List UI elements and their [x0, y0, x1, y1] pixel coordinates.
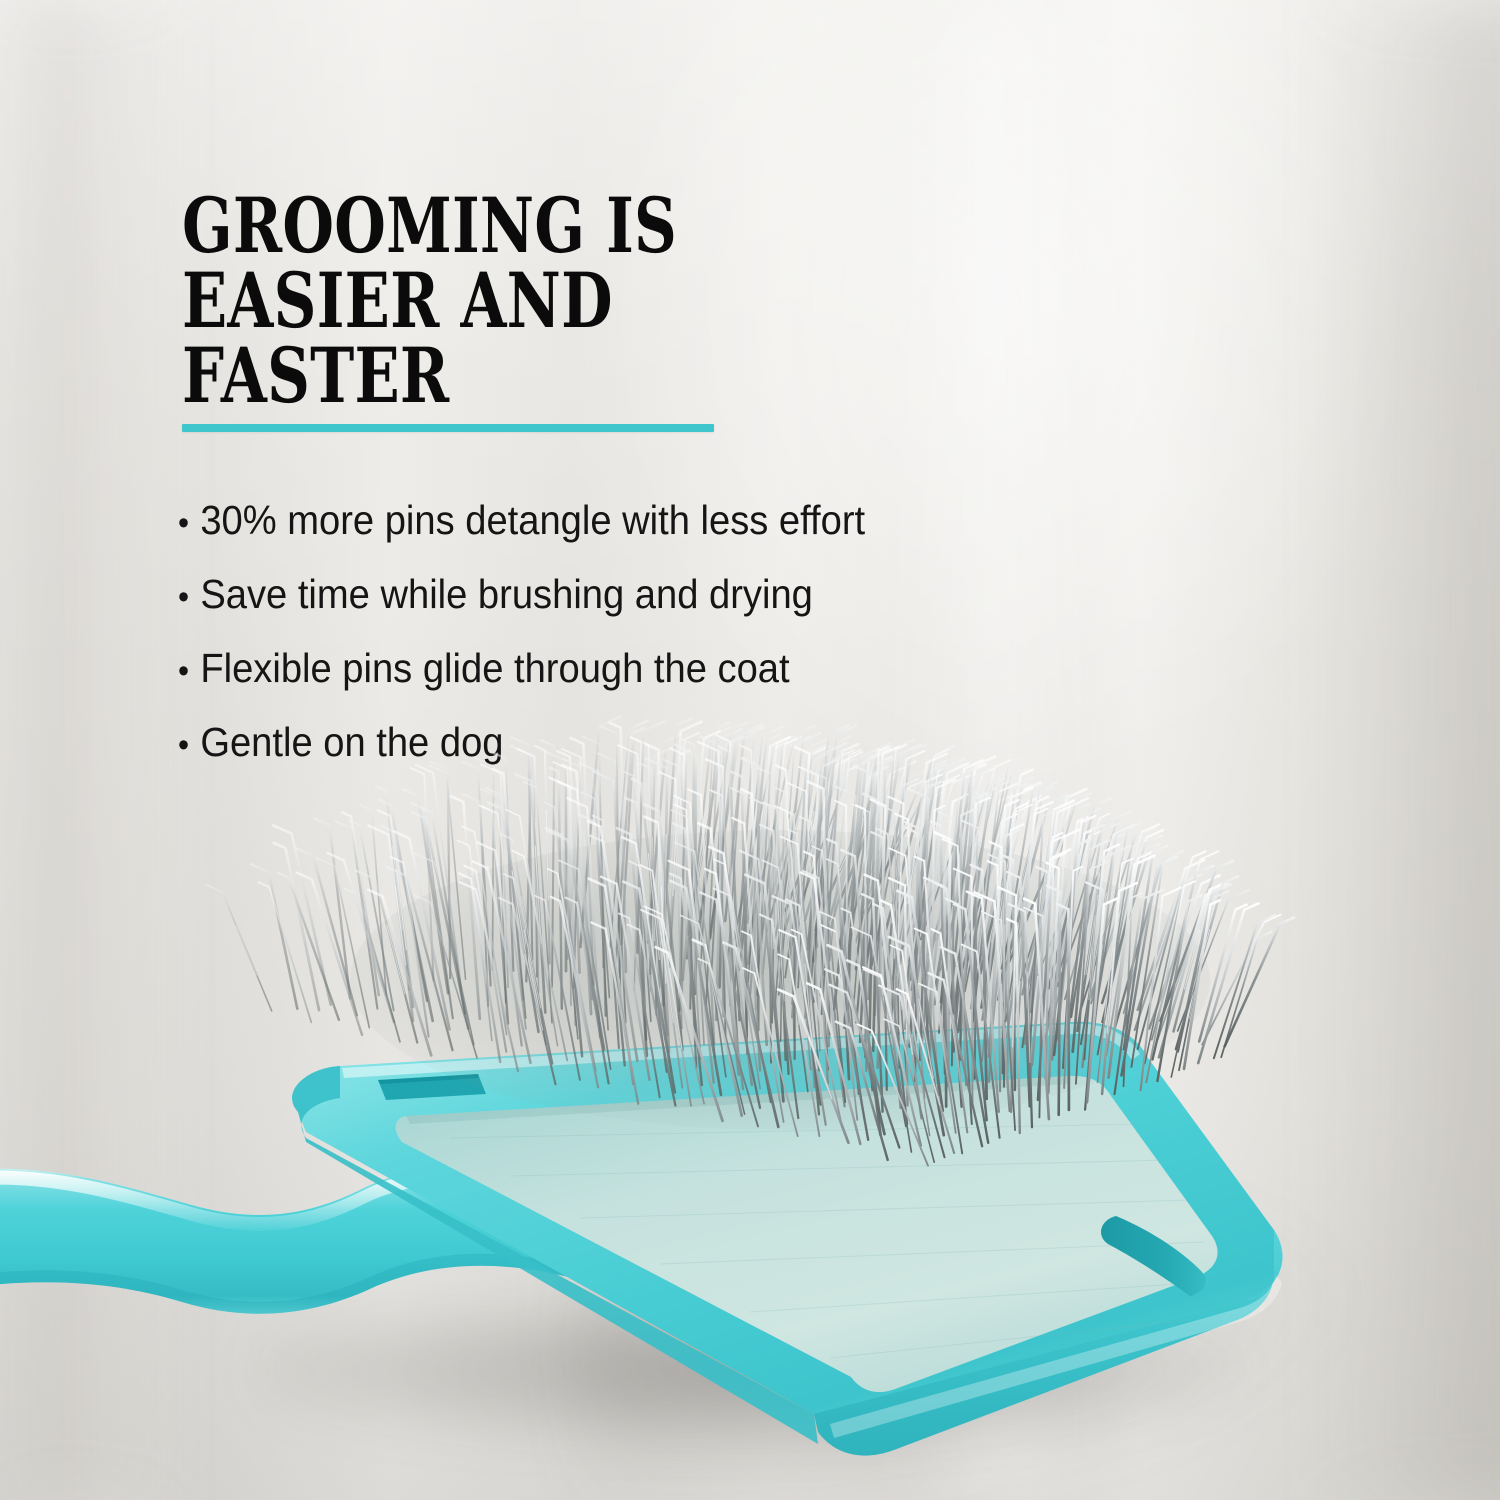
bullet-text: 30% more pins detangle with less effort: [200, 500, 865, 541]
bullet-text: Save time while brushing and drying: [200, 574, 813, 615]
bullet-marker-icon: •: [178, 580, 200, 614]
bullet-text: Gentle on the dog: [200, 722, 503, 763]
feature-bullet-list: • 30% more pins detangle with less effor…: [178, 500, 1158, 796]
bullet-marker-icon: •: [178, 506, 200, 540]
brush-pins: [280, 800, 1300, 1220]
copy-block: GROOMING IS EASIER AND FASTER: [182, 188, 1102, 414]
product-image: [0, 790, 1380, 1500]
bullet-marker-icon: •: [178, 728, 200, 762]
list-item: • Flexible pins glide through the coat: [178, 648, 1089, 689]
bullet-text: Flexible pins glide through the coat: [200, 648, 789, 689]
accent-divider: [182, 424, 714, 432]
product-feature-panel: GROOMING IS EASIER AND FASTER • 30% more…: [0, 0, 1500, 1500]
bullet-marker-icon: •: [178, 654, 200, 688]
list-item: • 30% more pins detangle with less effor…: [178, 500, 1089, 541]
headline: GROOMING IS EASIER AND FASTER: [182, 188, 900, 414]
list-item: • Save time while brushing and drying: [178, 574, 1089, 615]
